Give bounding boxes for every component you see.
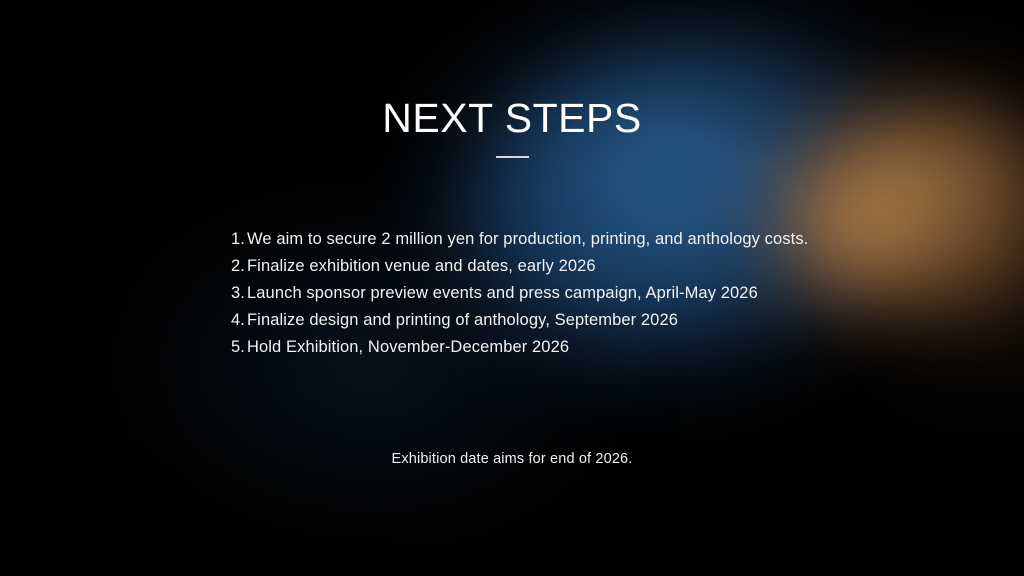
list-item-number: 3. (228, 280, 245, 307)
slide-title: NEXT STEPS (0, 98, 1024, 139)
list-item: 3. Launch sponsor preview events and pre… (228, 280, 848, 307)
list-item-number: 5. (228, 334, 245, 361)
list-item: 5. Hold Exhibition, November-December 20… (228, 334, 848, 361)
list-item-number: 2. (228, 253, 245, 280)
next-steps-list: 1. We aim to secure 2 million yen for pr… (228, 226, 848, 361)
slide-content: NEXT STEPS 1. We aim to secure 2 million… (0, 0, 1024, 576)
list-item: 4. Finalize design and printing of antho… (228, 307, 848, 334)
list-item-number: 4. (228, 307, 245, 334)
list-item: 2. Finalize exhibition venue and dates, … (228, 253, 848, 280)
list-item-text: Launch sponsor preview events and press … (247, 280, 848, 307)
list-item-text: Finalize exhibition venue and dates, ear… (247, 253, 848, 280)
list-item-number: 1. (228, 226, 245, 253)
presentation-slide: NEXT STEPS 1. We aim to secure 2 million… (0, 0, 1024, 576)
footnote-text: Exhibition date aims for end of 2026. (0, 451, 1024, 467)
list-item: 1. We aim to secure 2 million yen for pr… (228, 226, 848, 253)
list-item-text: Finalize design and printing of antholog… (247, 307, 848, 334)
title-divider-rule (496, 156, 529, 158)
list-item-text: Hold Exhibition, November-December 2026 (247, 334, 848, 361)
list-item-text: We aim to secure 2 million yen for produ… (247, 226, 848, 253)
